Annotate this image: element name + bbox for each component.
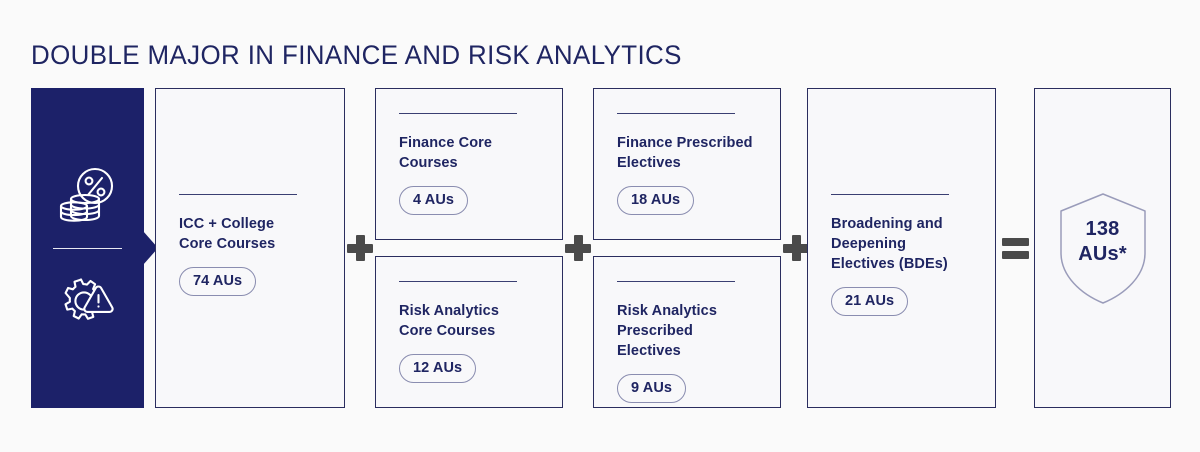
percent-coins-icon <box>31 166 144 224</box>
equals-operator <box>996 88 1034 408</box>
card-title-line1: Broadening and <box>831 214 977 234</box>
card-title: Finance Prescribed Electives <box>617 133 762 173</box>
infographic-page: DOUBLE MAJOR IN FINANCE AND RISK ANALYTI… <box>0 0 1200 452</box>
card-title-line2: Core Courses <box>399 321 544 341</box>
diagram-row: ICC + College Core Courses 74 AUs Financ… <box>0 88 1200 408</box>
card-title: Risk Analytics Core Courses <box>399 301 544 341</box>
card-title-line1: ICC + College <box>179 214 326 234</box>
plus-operator-1 <box>345 88 375 408</box>
card-title-line2: Electives <box>617 153 762 173</box>
icon-panel <box>31 88 144 408</box>
page-title: DOUBLE MAJOR IN FINANCE AND RISK ANALYTI… <box>31 40 682 71</box>
card-rule <box>831 194 949 195</box>
card-title-line2: Courses <box>399 153 544 173</box>
aus-badge: 18 AUs <box>617 186 694 215</box>
card-title: Finance Core Courses <box>399 133 544 173</box>
card-title-line1: Finance Core <box>399 133 544 153</box>
gear-warning-icon <box>31 271 144 329</box>
card-title-line2: Deepening <box>831 234 977 254</box>
card-title-line2: Core Courses <box>179 234 326 254</box>
aus-badge: 4 AUs <box>399 186 468 215</box>
card-title-line1: Risk Analytics <box>399 301 544 321</box>
aus-badge: 9 AUs <box>617 374 686 403</box>
card-rule <box>399 281 517 282</box>
card-title: ICC + College Core Courses <box>179 214 326 254</box>
aus-badge: 21 AUs <box>831 287 908 316</box>
card-total-aus: 138 AUs* <box>1034 88 1171 408</box>
card-title-line2: Prescribed <box>617 321 762 341</box>
card-rule <box>179 194 297 195</box>
card-rule <box>399 113 517 114</box>
total-value: 138 <box>1057 217 1149 242</box>
aus-badge: 12 AUs <box>399 354 476 383</box>
card-rule <box>617 113 735 114</box>
card-rule <box>617 281 735 282</box>
total-aus-text: 138 AUs* <box>1057 217 1149 267</box>
card-title-line1: Risk Analytics <box>617 301 762 321</box>
card-title-line3: Electives (BDEs) <box>831 254 977 274</box>
card-icc-college-core: ICC + College Core Courses 74 AUs <box>155 88 345 408</box>
card-title-line1: Finance Prescribed <box>617 133 762 153</box>
card-title: Broadening and Deepening Electives (BDEs… <box>831 214 977 274</box>
card-risk-analytics-core-courses: Risk Analytics Core Courses 12 AUs <box>375 256 563 408</box>
card-title: Risk Analytics Prescribed Electives <box>617 301 762 361</box>
icon-divider <box>53 248 122 249</box>
total-unit: AUs* <box>1057 242 1149 267</box>
aus-badge: 74 AUs <box>179 267 256 296</box>
card-broadening-deepening-electives: Broadening and Deepening Electives (BDEs… <box>807 88 996 408</box>
plus-operator-2 <box>563 88 593 408</box>
shield-icon: 138 AUs* <box>1057 191 1149 306</box>
card-title-line3: Electives <box>617 341 762 361</box>
card-risk-analytics-prescribed-electives: Risk Analytics Prescribed Electives 9 AU… <box>593 256 781 408</box>
card-finance-core-courses: Finance Core Courses 4 AUs <box>375 88 563 240</box>
card-finance-prescribed-electives: Finance Prescribed Electives 18 AUs <box>593 88 781 240</box>
